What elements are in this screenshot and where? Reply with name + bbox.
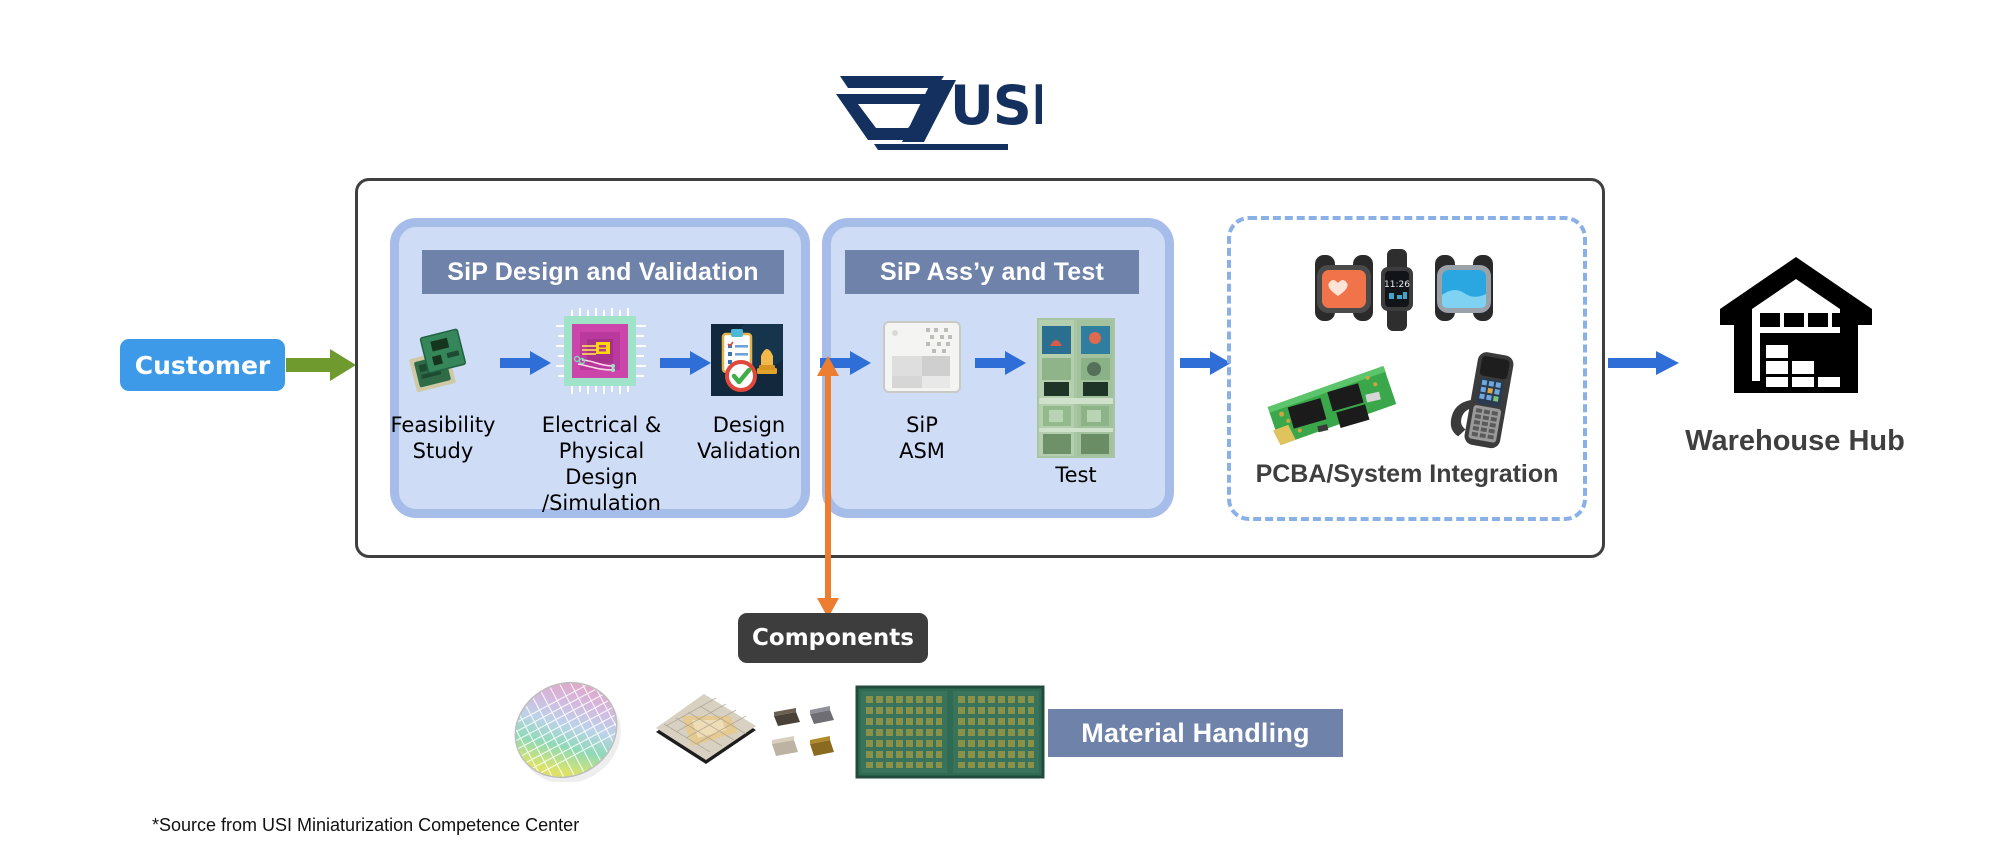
customer-to-process-arrow <box>286 347 358 383</box>
components-label: Components <box>752 625 914 651</box>
chip-layout-icon <box>556 308 646 394</box>
banner-text: Material Handling <box>1081 718 1309 749</box>
banner-material-handling: Material Handling <box>1048 709 1343 757</box>
bga-package-icon <box>652 690 760 778</box>
step-label-feasibility-study: Feasibility Study <box>388 412 498 464</box>
ssd-module-icon <box>1255 357 1405 455</box>
label-line-1: Design <box>690 412 808 438</box>
smartwatches-icon: 11:26 <box>1295 243 1517 335</box>
components-box[interactable]: Components <box>738 613 928 663</box>
banner-text: SiP Design and Validation <box>447 258 759 287</box>
step-label-electrical-physical-design: Electrical & Physical Design /Simulation <box>529 412 674 516</box>
label-line-2: Validation <box>690 438 808 464</box>
clipboard-stamp-icon <box>711 324 783 396</box>
label-line-1: SiP ASM <box>880 412 964 464</box>
label-line-1: Feasibility <box>388 412 498 438</box>
customer-label: Customer <box>135 351 271 380</box>
pcb-modules-icon <box>404 326 476 394</box>
step-label-sip-asm: SiP ASM <box>880 412 964 464</box>
usi-logo-mark: USI <box>832 68 1042 150</box>
label-line-1: Electrical & <box>529 412 674 438</box>
usi-logo: USI <box>832 68 1042 150</box>
arrow-feasibility-to-electrical <box>500 350 552 376</box>
banner-sip-design-and-validation: SiP Design and Validation <box>422 250 784 294</box>
banner-sip-assy-and-test: SiP Ass’y and Test <box>845 250 1139 294</box>
customer-box[interactable]: Customer <box>120 339 285 391</box>
test-equipment-icon <box>1037 318 1115 458</box>
label-line-1: Test <box>1035 462 1117 488</box>
smd-components-icon <box>770 700 842 768</box>
arrow-pcba-to-warehouse <box>1608 350 1680 376</box>
warehouse-icon <box>1716 251 1876 396</box>
source-footnote: *Source from USI Miniaturization Compete… <box>152 815 579 836</box>
watch-time-label: 11:26 <box>1384 280 1410 290</box>
banner-text: SiP Ass’y and Test <box>880 258 1104 287</box>
usi-wordmark: USI <box>950 74 1042 137</box>
arrow-electrical-to-validation <box>660 350 712 376</box>
pcba-system-integration-label: PCBA/System Integration <box>1227 460 1587 494</box>
label-line-3: /Simulation <box>529 490 674 516</box>
label-line-2: Study <box>388 438 498 464</box>
step-label-test: Test <box>1035 462 1117 488</box>
label-line-2: Physical Design <box>529 438 674 490</box>
silicon-wafer-icon <box>508 678 632 782</box>
arrow-test-to-pcba <box>1180 350 1232 376</box>
arrow-sip-asm-to-test <box>975 350 1027 376</box>
substrate-panel-icon <box>855 685 1045 779</box>
sip-package-icon <box>882 320 962 394</box>
step-label-design-validation: Design Validation <box>690 412 808 464</box>
handheld-scanner-icon <box>1433 345 1543 455</box>
components-double-arrow <box>815 356 841 618</box>
warehouse-hub-label: Warehouse Hub <box>1630 425 1960 461</box>
